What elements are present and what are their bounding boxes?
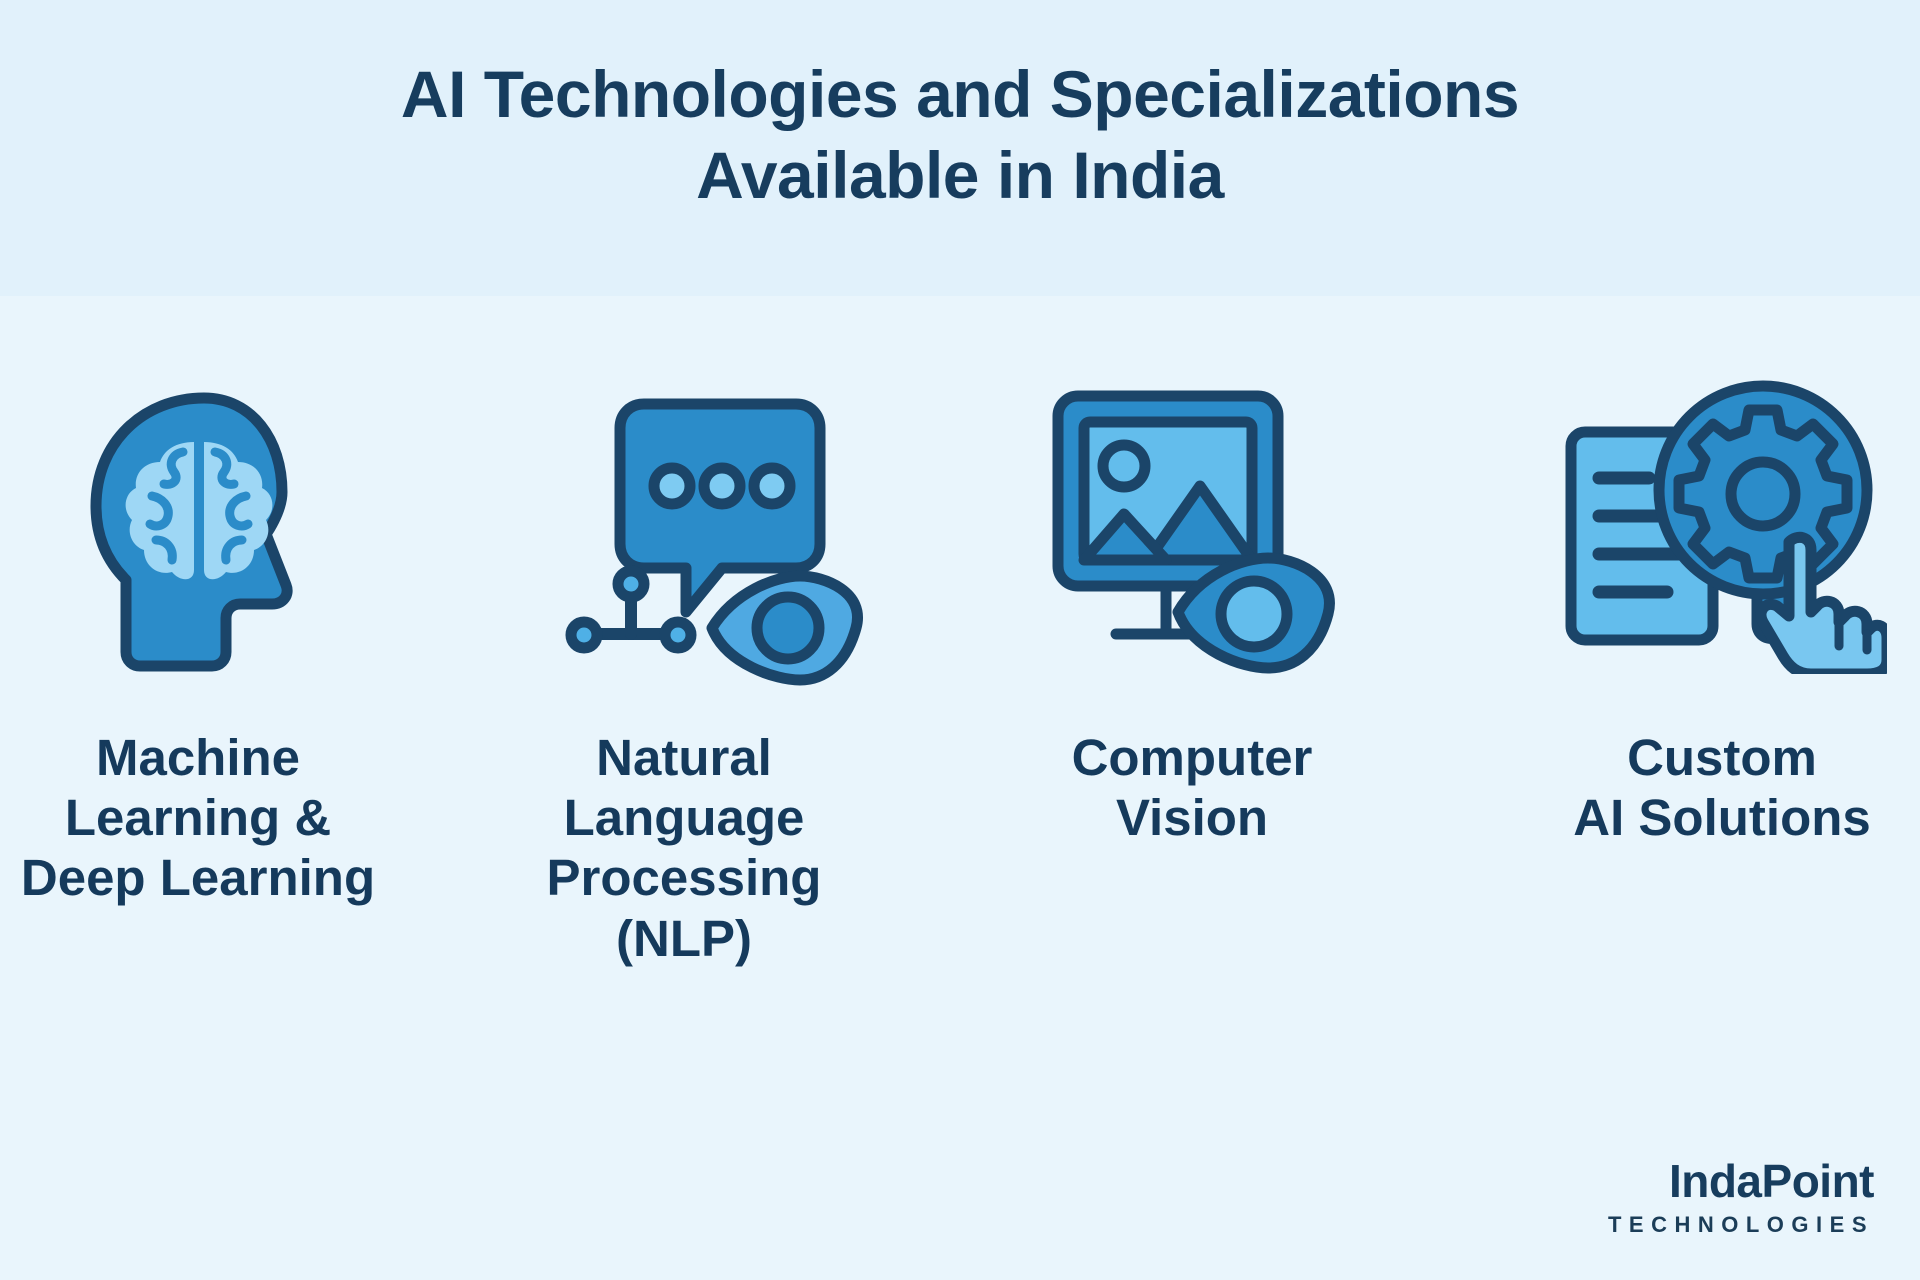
page-title: AI Technologies and Specializations Avai… [0,54,1920,215]
brand-logo-subtitle: TECHNOLOGIES [1602,1214,1874,1236]
card-label-nlp: Natural Language Processing (NLP) [464,728,904,969]
card-label-line: Computer [972,728,1412,788]
specialization-card-row: Machine Learning & Deep Learning [0,360,1920,1100]
card-label-custom-ai-solutions: Custom AI Solutions [1502,728,1920,848]
card-label-line: AI Solutions [1502,788,1920,848]
card-computer-vision[interactable]: Computer Vision [960,360,1440,844]
card-machine-learning[interactable]: Machine Learning & Deep Learning [0,360,480,905]
card-nlp[interactable]: Natural Language Processing (NLP) [480,360,960,965]
card-custom-ai-solutions[interactable]: Custom AI Solutions [1440,360,1920,844]
card-label-line: Language [464,788,904,848]
brand-logo-name: IndaPoint [1602,1158,1874,1204]
brand-logo[interactable]: IndaPoint TECHNOLOGIES [1602,1158,1874,1236]
card-label-line: Natural [464,728,904,788]
card-label-computer-vision: Computer Vision [972,728,1412,848]
document-gear-magnifier-hand-icon [1522,354,1920,694]
card-label-line: Machine [0,728,418,788]
page-title-line-1: AI Technologies and Specializations [0,54,1920,135]
card-label-line: Custom [1502,728,1920,788]
card-label-line: Learning & [0,788,418,848]
speech-bubble-eye-nodes-icon [496,366,896,706]
card-label-line: Deep Learning [0,848,418,908]
card-label-line: Processing [464,848,904,908]
monitor-image-eye-icon [996,354,1396,694]
card-label-machine-learning: Machine Learning & Deep Learning [0,728,418,909]
card-label-line: (NLP) [464,909,904,969]
page-title-line-2: Available in India [0,135,1920,216]
head-brain-icon [2,360,402,700]
card-label-line: Vision [972,788,1412,848]
